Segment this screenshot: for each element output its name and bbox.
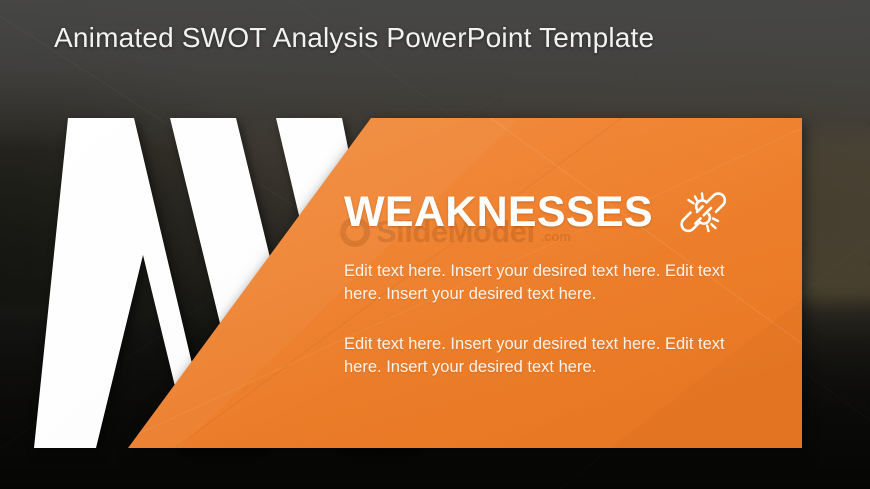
panel-heading-row: WEAKNESSES — [344, 186, 764, 238]
panel-body: Edit text here. Insert your desired text… — [344, 260, 764, 380]
panel-heading: WEAKNESSES — [344, 191, 653, 234]
swot-weaknesses-slide: Animated SWOT Analysis PowerPoint Templa… — [0, 0, 870, 489]
panel-content: WEAKNESSES — [344, 186, 764, 380]
broken-chain-icon — [675, 187, 731, 237]
panel-paragraph-2: Edit text here. Insert your desired text… — [344, 333, 756, 380]
panel-paragraph-1: Edit text here. Insert your desired text… — [344, 260, 756, 307]
